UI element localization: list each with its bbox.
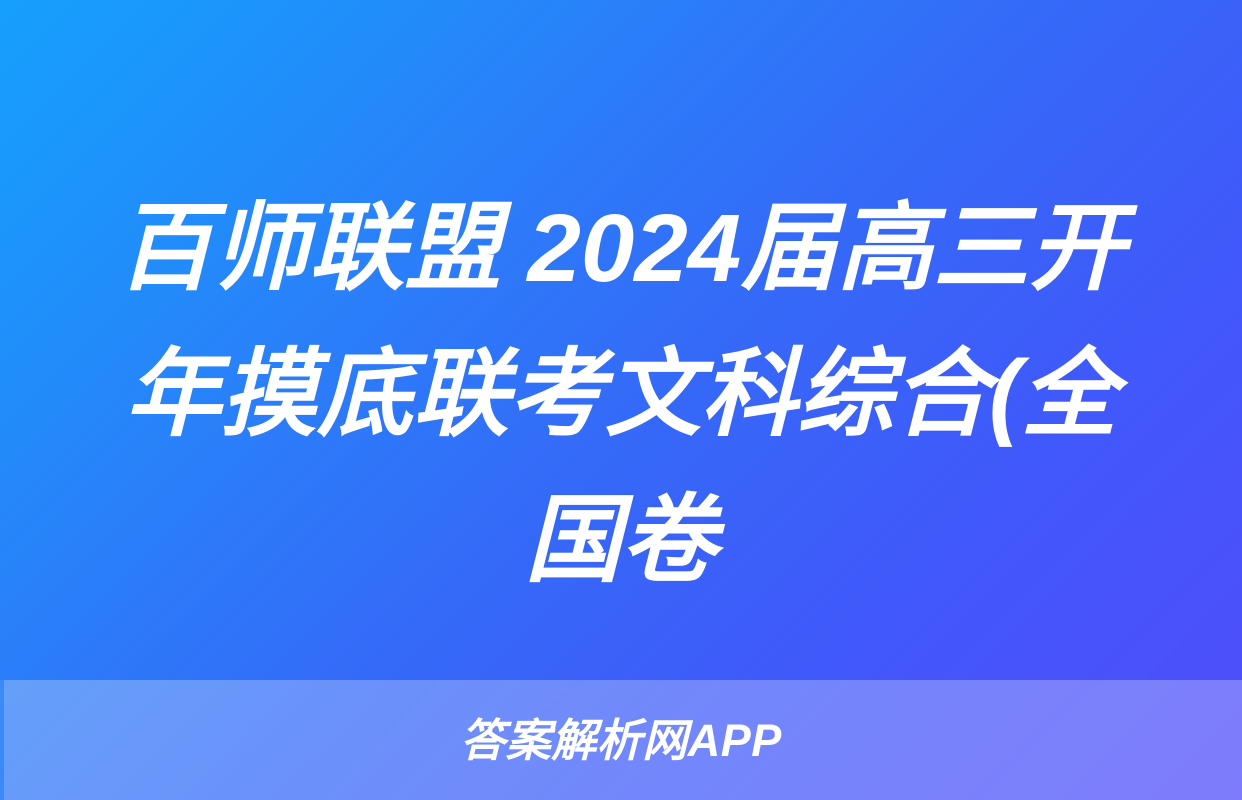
title-line-2: 年摸底联考文科综合(全 [74, 322, 1168, 468]
footer-watermark-band: 答案解析网APP [0, 680, 1242, 800]
title-line-3: 国卷 [74, 468, 1168, 614]
banner-title: 百师联盟 2024届高三开 年摸底联考文科综合(全 国卷 [74, 176, 1168, 614]
title-line-1: 百师联盟 2024届高三开 [74, 176, 1168, 322]
exam-cover-banner: 百师联盟 2024届高三开 年摸底联考文科综合(全 国卷 答案解析网APP [0, 0, 1242, 800]
app-watermark-label: 答案解析网APP [460, 718, 782, 763]
footer-text-wrapper: 答案解析网APP [0, 680, 1242, 800]
